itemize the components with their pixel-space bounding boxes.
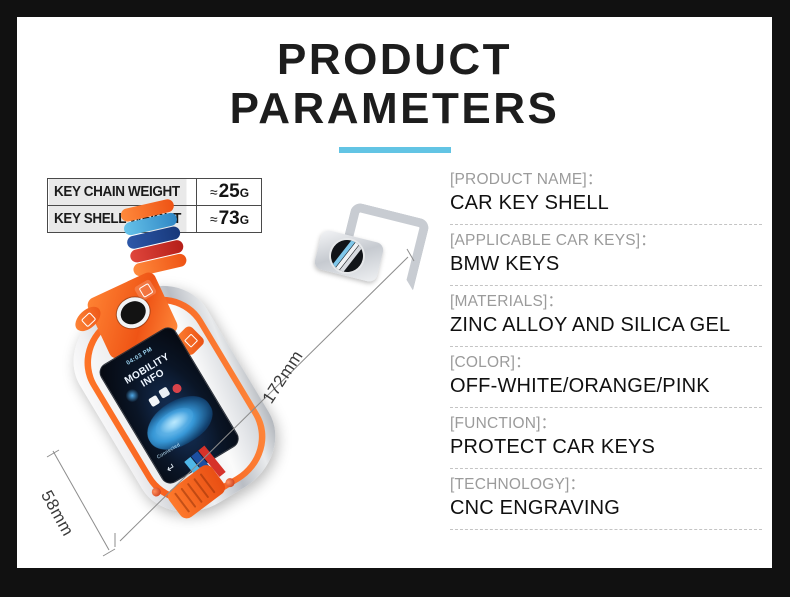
screen-back-icon: ↵ [165,462,179,476]
spec-row-materials: [MATERIALS]： ZINC ALLOY AND SILICA GEL [450,291,762,343]
title-underline-accent [339,147,451,153]
spec-row-technology: [TECHNOLOGY]： CNC ENGRAVING [450,474,762,526]
spec-label: [APPLICABLE CAR KEYS]： [450,230,762,251]
spec-value: BMW KEYS [450,251,762,282]
spec-label: [COLOR]： [450,352,762,373]
screen-icon-alert [171,382,183,394]
spec-label: [PRODUCT NAME]： [450,169,762,190]
screen-icon-hand [148,395,160,407]
image-frame: PRODUCT PARAMETERS KEY CHAIN WEIGHT ≈25G… [0,0,790,597]
spec-divider [450,285,762,286]
spec-label: [TECHNOLOGY]： [450,474,762,495]
spec-divider [450,529,762,530]
spec-value: PROTECT CAR KEYS [450,434,762,465]
spec-divider [450,346,762,347]
spec-label: [MATERIALS]： [450,291,762,312]
spec-value: OFF-WHITE/ORANGE/PINK [450,373,762,404]
spec-row-function: [FUNCTION]： PROTECT CAR KEYS [450,413,762,465]
spec-divider [450,407,762,408]
product-illustration: 04:03 PM MOBILITY INFO Connected ↵ [47,192,447,562]
spec-list: [PRODUCT NAME]： CAR KEY SHELL [APPLICABL… [450,169,762,535]
spec-divider [450,224,762,225]
title-line-2: PARAMETERS [17,84,772,133]
page-title: PRODUCT PARAMETERS [17,35,772,133]
spec-row-applicable-car-keys: [APPLICABLE CAR KEYS]： BMW KEYS [450,230,762,282]
spec-row-color: [COLOR]： OFF-WHITE/ORANGE/PINK [450,352,762,404]
spec-value: CAR KEY SHELL [450,190,762,221]
spec-divider [450,468,762,469]
content-canvas: PRODUCT PARAMETERS KEY CHAIN WEIGHT ≈25G… [17,17,772,568]
spec-label: [FUNCTION]： [450,413,762,434]
title-line-1: PRODUCT [17,35,772,84]
spec-value: ZINC ALLOY AND SILICA GEL [450,312,762,343]
spec-value: CNC ENGRAVING [450,495,762,526]
spec-row-product-name: [PRODUCT NAME]： CAR KEY SHELL [450,169,762,221]
screen-icon-car [158,386,170,398]
carabiner-clasp [309,210,417,290]
